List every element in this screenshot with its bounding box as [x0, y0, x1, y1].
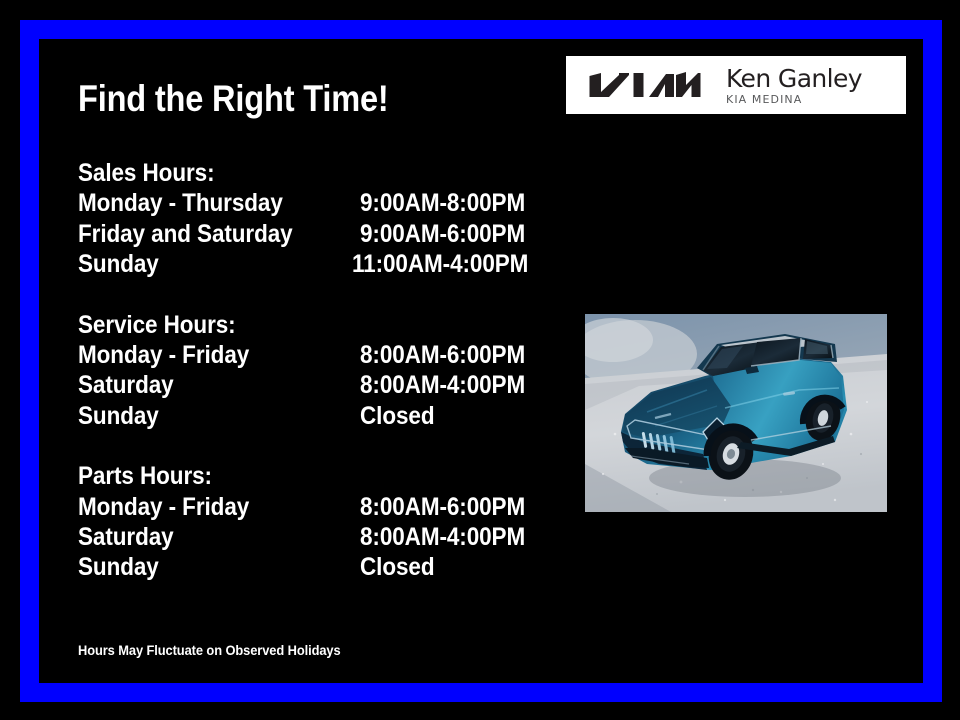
hours-row: Monday - Thursday9:00AM-8:00PM [78, 188, 548, 218]
kia-ev9-suv-photo [585, 314, 887, 512]
hours-time-value: 8:00AM-6:00PM [360, 340, 525, 370]
hours-time-value: 11:00AM-4:00PM [352, 249, 528, 279]
hours-row: SundayClosed [78, 552, 548, 582]
hours-section-heading: Parts Hours: [78, 461, 501, 491]
hours-day-label: Sunday [78, 401, 332, 431]
dealership-hours-slide: Find the Right Time! Sales Hours:Monday … [0, 0, 960, 720]
hours-day-label: Saturday [78, 522, 332, 552]
dealer-name: Ken Ganley [726, 66, 862, 91]
hours-day-label: Monday - Friday [78, 492, 332, 522]
hours-row: Sunday11:00AM-4:00PM [78, 249, 548, 279]
hours-section-heading: Sales Hours: [78, 158, 501, 188]
hours-time-value: 8:00AM-4:00PM [360, 370, 525, 400]
hours-section: Parts Hours:Monday - Friday8:00AM-6:00PM… [78, 461, 548, 583]
hours-section-heading: Service Hours: [78, 310, 501, 340]
hours-time-value: 8:00AM-4:00PM [360, 522, 525, 552]
hours-day-label: Saturday [78, 370, 332, 400]
kia-logo-icon [586, 70, 704, 100]
hours-time-value: Closed [360, 552, 434, 582]
dealer-name-block: Ken Ganley KIA MEDINA [726, 66, 862, 105]
hours-row: SundayClosed [78, 401, 548, 431]
hours-time-value: 9:00AM-6:00PM [360, 219, 525, 249]
dealer-subtitle: KIA MEDINA [726, 94, 862, 105]
hours-day-label: Sunday [78, 552, 332, 582]
hours-row: Monday - Friday8:00AM-6:00PM [78, 340, 548, 370]
dealer-logo-panel: Ken Ganley KIA MEDINA [566, 56, 906, 114]
hours-list: Sales Hours:Monday - Thursday9:00AM-8:00… [78, 158, 548, 583]
hours-day-label: Monday - Thursday [78, 188, 332, 218]
hours-day-label: Monday - Friday [78, 340, 332, 370]
hours-section: Sales Hours:Monday - Thursday9:00AM-8:00… [78, 158, 548, 280]
hours-section: Service Hours:Monday - Friday8:00AM-6:00… [78, 310, 548, 432]
hours-time-value: Closed [360, 401, 434, 431]
hours-row: Saturday8:00AM-4:00PM [78, 370, 548, 400]
hours-day-label: Friday and Saturday [78, 219, 332, 249]
hours-time-value: 9:00AM-8:00PM [360, 188, 525, 218]
hours-row: Monday - Friday8:00AM-6:00PM [78, 492, 548, 522]
hours-time-value: 8:00AM-6:00PM [360, 492, 525, 522]
hours-day-label: Sunday [78, 249, 325, 279]
holiday-disclaimer: Hours May Fluctuate on Observed Holidays [78, 641, 341, 659]
hours-row: Saturday8:00AM-4:00PM [78, 522, 548, 552]
page-title: Find the Right Time! [78, 78, 389, 120]
hours-row: Friday and Saturday9:00AM-6:00PM [78, 219, 548, 249]
